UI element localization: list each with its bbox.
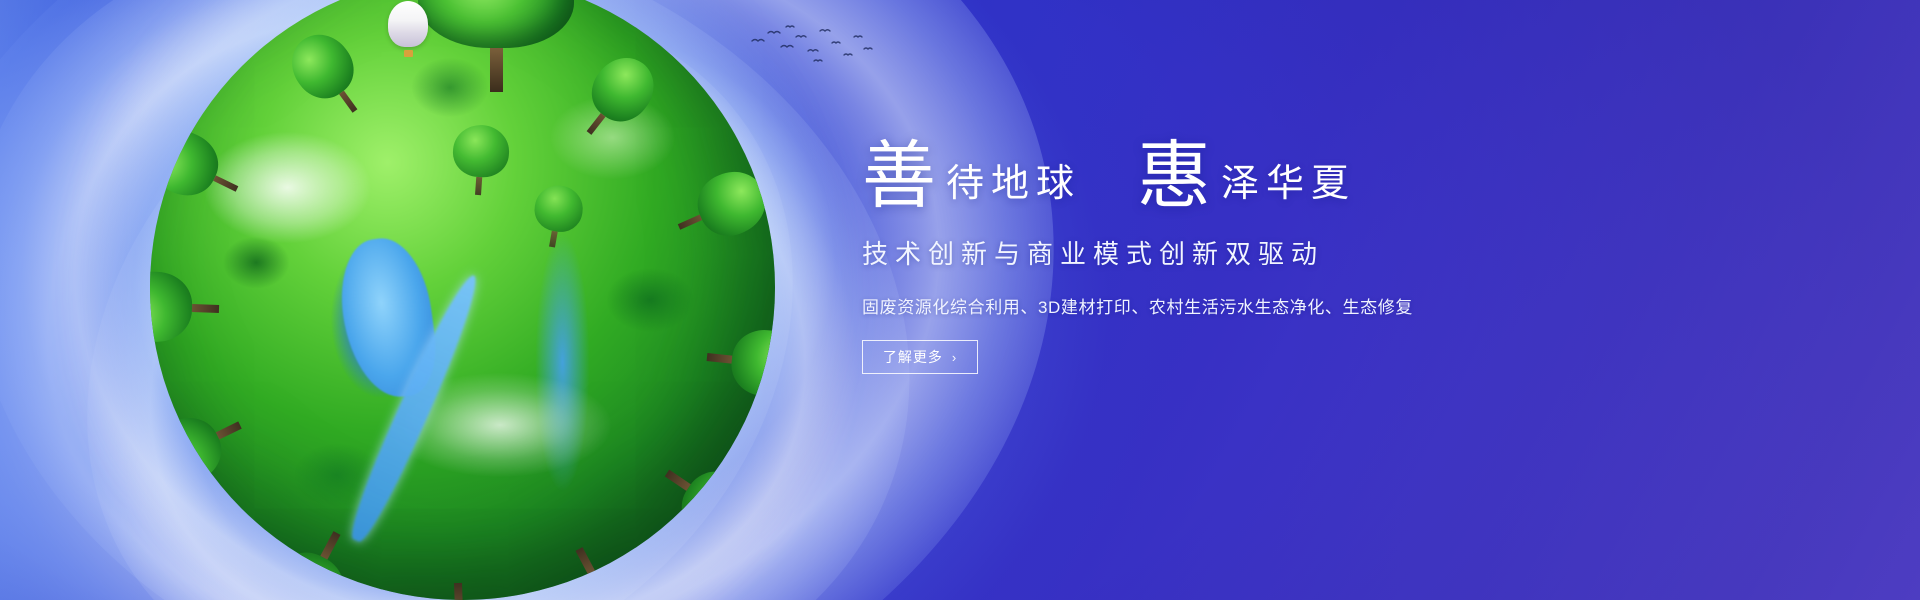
headline-text-1: 待地球 bbox=[946, 157, 1081, 212]
page-title: 善 待地球 惠 泽华夏 bbox=[862, 120, 1562, 212]
hero-banner: 善 待地球 惠 泽华夏 技术创新与商业模式创新双驱动 固废资源化综合利用、3D建… bbox=[0, 0, 1920, 600]
learn-more-label: 了解更多 bbox=[883, 347, 943, 367]
hero-copy: 善 待地球 惠 泽华夏 技术创新与商业模式创新双驱动 固废资源化综合利用、3D建… bbox=[862, 120, 1562, 374]
hero-description: 固废资源化综合利用、3D建材打印、农村生活污水生态净化、生态修复 bbox=[862, 293, 1562, 318]
large-tree-icon bbox=[418, 0, 574, 77]
learn-more-button[interactable]: 了解更多 › bbox=[862, 340, 978, 374]
hot-air-balloon-icon bbox=[388, 1, 428, 57]
headline-text-2: 泽华夏 bbox=[1221, 157, 1356, 212]
chevron-right-icon: › bbox=[952, 350, 957, 365]
headline-char-2: 惠 bbox=[1137, 142, 1211, 212]
hero-subtitle: 技术创新与商业模式创新双驱动 bbox=[862, 234, 1562, 271]
birds-icon bbox=[748, 23, 878, 69]
headline-char-1: 善 bbox=[862, 142, 936, 212]
